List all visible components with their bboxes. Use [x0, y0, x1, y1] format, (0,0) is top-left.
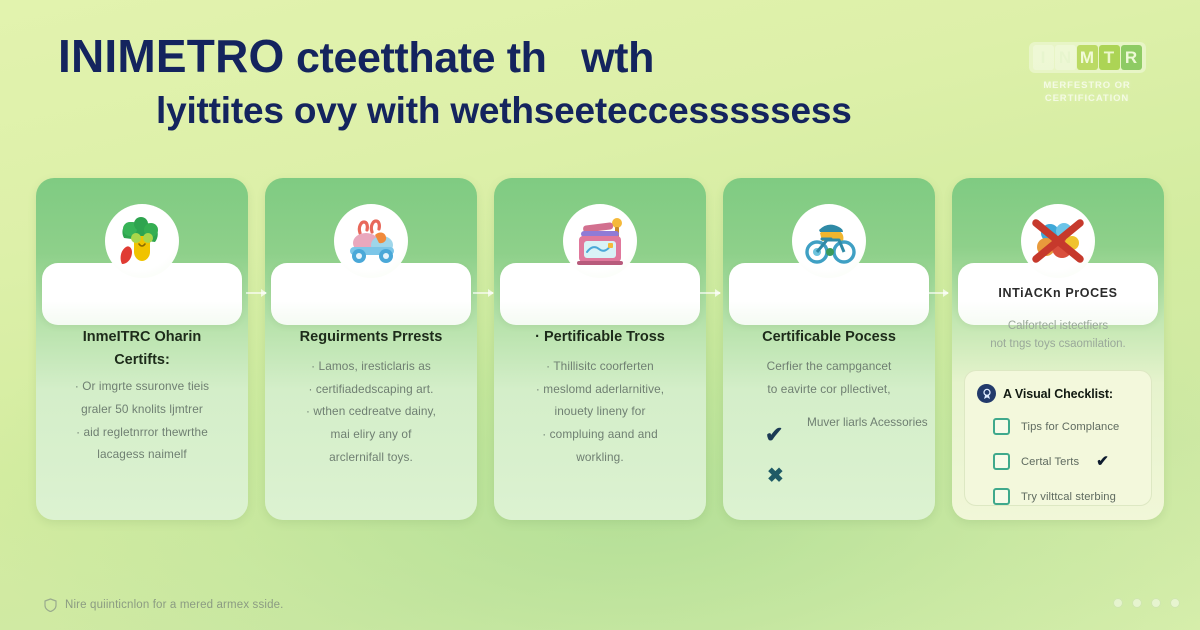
logo-letter-3: M — [1077, 45, 1098, 70]
footer-text: Nire quiinticnlon for a mered armex ssid… — [65, 599, 284, 611]
card-line: wthen cedreatve dainy, — [279, 400, 463, 423]
page-title-line-2: lyittites ovy with wethseeteccesssssess — [58, 92, 988, 131]
teddy-bear-toy-icon — [105, 204, 179, 278]
checkbox[interactable] — [993, 453, 1010, 470]
card-line: Acessories — [870, 415, 928, 429]
card-line: aid regletnrror thewrthe — [50, 421, 234, 444]
card-line: Cerfier the campgancet — [737, 355, 921, 378]
checklist-item[interactable]: Tips for Complance — [993, 418, 1139, 435]
card-line: Thillisitc coorferten — [508, 355, 692, 378]
logo-letter-5: R — [1121, 45, 1142, 70]
card-line: workling. — [508, 446, 692, 469]
card-5-intro: Calfortecl istectfiers not tngs toys csa… — [962, 318, 1154, 354]
card-title-3: · Pertificable Tross — [508, 328, 692, 346]
step-card-4[interactable]: Certificable Pocess Cerfier the campganc… — [723, 178, 935, 520]
card-4-mark-text: Muver liarls Acessories — [807, 412, 928, 432]
card-lines-4: Cerfier the campgancet to eavirte cor pl… — [737, 355, 921, 400]
toy-workbench-icon — [563, 204, 637, 278]
card-line: mai eliry any of — [279, 423, 463, 446]
step-card-3[interactable]: · Pertificable Tross Thillisitc coorfert… — [494, 178, 706, 520]
logo-mark: I N M T R — [1029, 42, 1146, 73]
checklist-item-label: Certal Terts — [1021, 456, 1079, 468]
checklist-header: A Visual Checklist: — [977, 384, 1139, 403]
card-line: compluing aand and — [508, 423, 692, 446]
infographic-poster: INIMETRO cteetthate th wth lyittites ovy… — [0, 0, 1200, 630]
card-line: arclernifall toys. — [279, 446, 463, 469]
step-card-5[interactable]: INTiACKn PrOCES Calfortecl istectfiers n… — [952, 178, 1164, 520]
card-body-1: InmeITRC Oharin Certifts: Or imgrte ssur… — [36, 316, 248, 476]
checklist-item[interactable]: Certal Terts ✔ — [993, 453, 1139, 470]
step-card-1[interactable]: InmeITRC Oharin Certifts: Or imgrte ssur… — [36, 178, 248, 520]
pagination-dots[interactable] — [1113, 598, 1180, 608]
pagination-dot[interactable] — [1113, 598, 1123, 608]
visual-checklist-panel: A Visual Checklist: Tips for Complance C… — [964, 370, 1152, 506]
checklist-item-label: Tips for Complance — [1021, 421, 1119, 433]
header: INIMETRO cteetthate th wth lyittites ovy… — [0, 0, 1200, 160]
card-line: Or imgrte ssuronve tieis — [50, 375, 234, 398]
checkmark-icon: ✔ — [1096, 454, 1109, 469]
pagination-dot[interactable] — [1151, 598, 1161, 608]
pagination-dot[interactable] — [1170, 598, 1180, 608]
checklist-item-label: Try vilttcal sterbing — [1021, 491, 1116, 503]
checkbox[interactable] — [993, 418, 1010, 435]
card-body-3: · Pertificable Tross Thillisitc coorfert… — [494, 316, 706, 478]
step-card-2[interactable]: Reguirments Prrests Lamos, iresticlaris … — [265, 178, 477, 520]
card-title-1: InmeITRC Oharin — [50, 328, 234, 346]
ribbon-award-icon — [977, 384, 996, 403]
card-title-2: Reguirments Prrests — [279, 328, 463, 346]
checklist-item[interactable]: Try vilttcal sterbing — [993, 488, 1139, 505]
cross-mark-icon: ✖ — [767, 466, 784, 486]
card-line: to eavirte cor pllectivet, — [737, 378, 921, 401]
shield-icon — [44, 598, 57, 612]
card-title-4: Certificable Pocess — [737, 328, 921, 346]
logo: I N M T R MERFESTRO OR CERTIFICATION — [1012, 42, 1162, 106]
card-title-5: INTiACKn PrOCES — [952, 286, 1164, 300]
card-line: lacagess naimelf — [50, 443, 234, 466]
card-subtitle-1: Certifts: — [50, 351, 234, 369]
toy-bicycle-rider-icon — [792, 204, 866, 278]
card-row: InmeITRC Oharin Certifts: Or imgrte ssur… — [36, 178, 1164, 520]
prohibited-toys-icon — [1021, 204, 1095, 278]
title-block: INIMETRO cteetthate th wth lyittites ovy… — [58, 33, 988, 131]
checklist-title: A Visual Checklist: — [1003, 387, 1113, 401]
page-title-line-1-rest: cteetthate th wth — [284, 34, 653, 82]
card-line: meslomd aderlarnitive, — [508, 378, 692, 401]
card-lines-1: Or imgrte ssuronve tieis graler 50 knoli… — [50, 375, 234, 466]
logo-subtitle: MERFESTRO OR CERTIFICATION — [1012, 80, 1162, 106]
toy-car-icon — [334, 204, 408, 278]
card-lines-3: Thillisitc coorferten meslomd aderlarnit… — [508, 355, 692, 468]
pagination-dot[interactable] — [1132, 598, 1142, 608]
checkmark-icon: ✔ — [765, 424, 783, 446]
footer: Nire quiinticnlon for a mered armex ssid… — [44, 598, 284, 612]
logo-letter-2: N — [1055, 45, 1076, 70]
card-body-2: Reguirments Prrests Lamos, iresticlaris … — [265, 316, 477, 478]
logo-letter-1: I — [1033, 45, 1054, 70]
card-line: graler 50 knolits ljmtrer — [50, 398, 234, 421]
card-lines-2: Lamos, iresticlaris as certifiadedscapin… — [279, 355, 463, 468]
card-line: inouety lineny for — [508, 400, 692, 423]
card-line: Lamos, iresticlaris as — [279, 355, 463, 378]
card-line: certifiadedscaping art. — [279, 378, 463, 401]
checkbox[interactable] — [993, 488, 1010, 505]
page-title-line-1: INIMETRO cteetthate th wth — [58, 33, 988, 80]
logo-letter-4: T — [1099, 45, 1120, 70]
card-line: Muver liarls — [807, 415, 867, 429]
brand-name: INIMETRO — [58, 30, 284, 82]
card-body-4: Certificable Pocess Cerfier the campganc… — [723, 316, 935, 410]
